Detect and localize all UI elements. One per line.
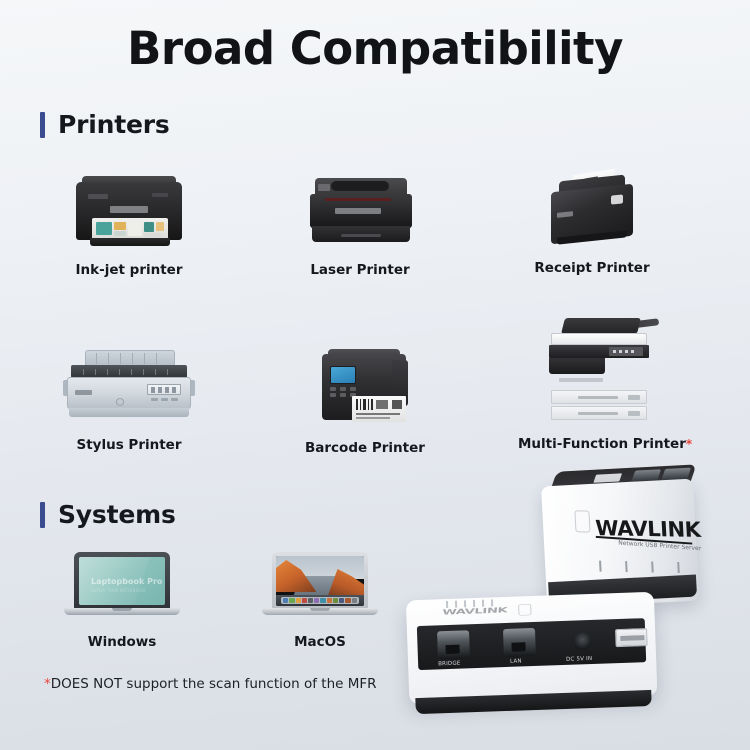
section-header-printers: Printers <box>40 110 170 139</box>
asterisk-marker: * <box>686 437 692 451</box>
item-multi-function-printer: Multi-Function Printer* <box>518 316 678 452</box>
footnote-text: DOES NOT support the scan function of th… <box>51 676 377 692</box>
device-button-icon <box>518 604 531 616</box>
item-laser-printer: Laser Printer <box>296 168 424 278</box>
multifunction-printer-icon <box>523 316 673 428</box>
port-label-bridge: BRIDGE <box>438 661 461 668</box>
rj45-port-lan <box>503 628 536 657</box>
accent-bar-icon <box>40 112 45 138</box>
item-label: Stylus Printer <box>62 437 196 453</box>
page-title: Broad Compatibility <box>0 22 750 75</box>
inkjet-printer-icon <box>70 168 188 248</box>
item-label: Ink-jet printer <box>65 262 193 278</box>
windows-laptop-icon: Laptopbook Pro ULTRA THIN NOTEBOOK <box>64 548 180 620</box>
print-server-device-lower: WAVLINK BRIDGE LAN DC 5V IN <box>406 584 663 733</box>
accent-bar-icon <box>40 502 45 528</box>
section-title-printers: Printers <box>58 110 170 139</box>
laser-printer-icon <box>301 168 419 248</box>
port-label-dc: DC 5V IN <box>566 656 592 663</box>
stylus-printer-icon <box>63 348 195 420</box>
item-label: Receipt Printer <box>528 260 656 276</box>
footnote-asterisk: * <box>44 676 51 692</box>
infographic-page: Broad Compatibility Printers Ink-jet pri… <box>0 0 750 750</box>
wps-button-icon <box>574 510 590 532</box>
item-label: Multi-Function Printer* <box>518 436 678 452</box>
item-windows: Laptopbook Pro ULTRA THIN NOTEBOOK Windo… <box>60 548 184 650</box>
footnote: *DOES NOT support the scan function of t… <box>44 676 377 692</box>
item-receipt-printer: Receipt Printer <box>528 162 656 276</box>
item-label: Windows <box>60 634 184 650</box>
item-label-text: Multi-Function Printer <box>518 436 686 452</box>
item-label: Laser Printer <box>296 262 424 278</box>
item-macos: MacOS <box>258 548 382 650</box>
port-label-lan: LAN <box>510 658 522 664</box>
item-label: Barcode Printer <box>305 440 423 456</box>
usb-port-icon <box>615 628 648 647</box>
item-label: MacOS <box>258 634 382 650</box>
usb-port-icon <box>593 473 622 483</box>
barcode-printer-icon <box>308 342 420 426</box>
section-title-systems: Systems <box>58 500 176 529</box>
receipt-printer-icon <box>533 162 651 250</box>
item-stylus-printer: Stylus Printer <box>62 348 196 453</box>
item-barcode-printer: Barcode Printer <box>305 342 423 456</box>
macbook-icon <box>262 548 378 620</box>
section-header-systems: Systems <box>40 500 176 529</box>
rj45-port-bridge <box>437 630 470 659</box>
item-ink-jet-printer: Ink-jet printer <box>65 168 193 278</box>
